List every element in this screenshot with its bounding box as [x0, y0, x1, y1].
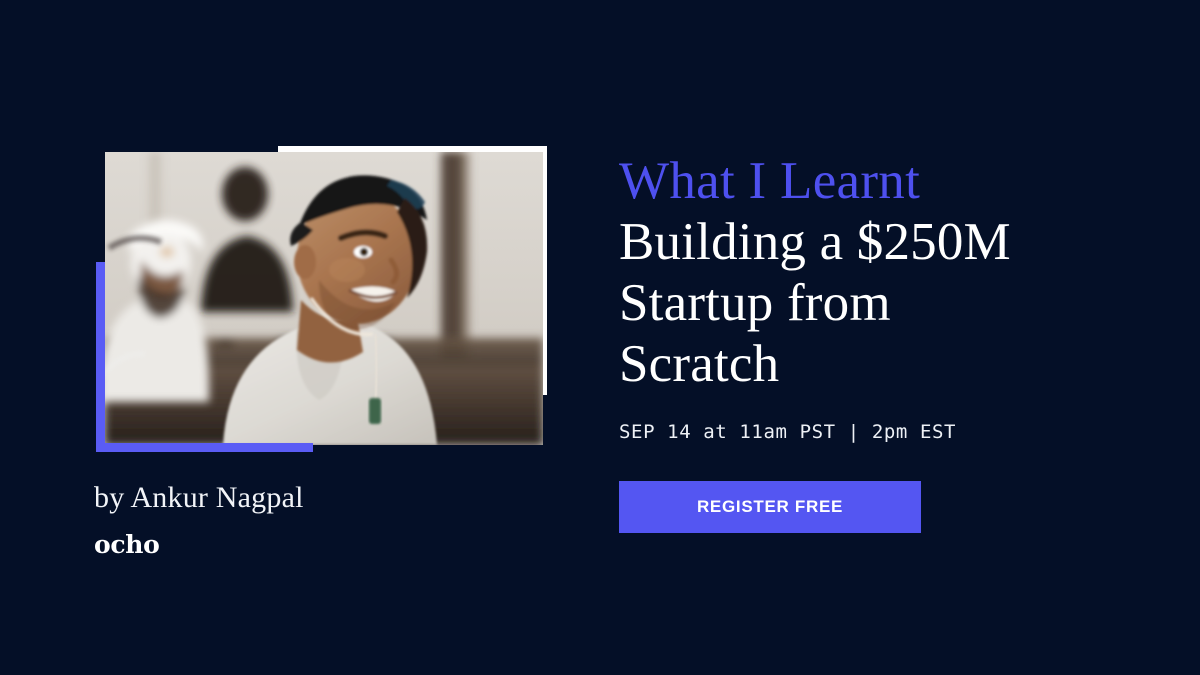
ocho-logo: ocho — [94, 530, 160, 559]
promo-copy: What I Learnt Building a $250M Startup f… — [619, 150, 1089, 443]
headline-line-3: Scratch — [619, 334, 1089, 395]
eyebrow-heading: What I Learnt — [619, 150, 1089, 212]
photo-composition: by Ankur Nagpal ocho — [0, 0, 600, 675]
promo-banner: by Ankur Nagpal ocho What I Learnt Build… — [0, 0, 1200, 675]
register-free-button[interactable]: REGISTER FREE — [619, 481, 921, 533]
headline-line-2: Startup from — [619, 273, 1089, 334]
speaker-byline: by Ankur Nagpal — [94, 481, 304, 516]
register-free-label: REGISTER FREE — [697, 497, 843, 517]
main-headline: Building a $250M Startup from Scratch — [619, 212, 1089, 395]
indigo-accent-frame — [96, 262, 313, 452]
event-datetime: SEP 14 at 11am PST | 2pm EST — [619, 421, 1089, 443]
headline-line-1: Building a $250M — [619, 212, 1089, 273]
